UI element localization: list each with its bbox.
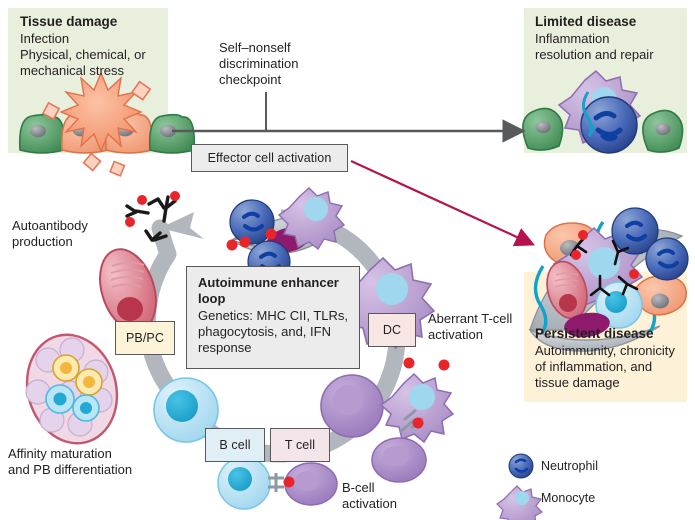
limited-disease-illustration xyxy=(523,71,683,153)
node-label-pb-pc[interactable]: PB/PC xyxy=(115,321,175,355)
node-label-dc[interactable]: DC xyxy=(368,313,416,347)
persistent-disease-body: Autoimmunity, chronicity of inflammation… xyxy=(535,343,675,391)
autoimmune-enhancer-loop-box: Autoimmune enhancer loop Genetics: MHC C… xyxy=(186,266,360,369)
checkpoint-label: Self–nonself discrimination checkpoint xyxy=(219,40,298,88)
legend-neutrophil-icon xyxy=(509,454,533,478)
limited-disease-body: Inflammation resolution and repair xyxy=(535,31,654,63)
affinity-maturation-label: Affinity maturation and PB differentiati… xyxy=(8,446,132,478)
persistent-disease-arrow xyxy=(351,161,519,238)
loop-box-body: Genetics: MHC CII, TLRs, phagocytosis, a… xyxy=(198,308,348,356)
effector-cell-activation-label: Effector cell activation xyxy=(208,151,332,165)
legend-item-neutrophil-label: Neutrophil xyxy=(541,459,598,473)
node-label-t-cell-text: T cell xyxy=(285,438,315,452)
legend-item-monocyte-label: Monocyte xyxy=(541,491,595,505)
node-label-t-cell[interactable]: T cell xyxy=(270,428,330,462)
t-cell-illustration xyxy=(321,375,383,437)
persistent-disease-title: Persistent disease xyxy=(535,326,654,342)
tissue-damage-illustration xyxy=(20,73,195,176)
tissue-damage-body: Infection Physical, chemical, or mechani… xyxy=(20,31,146,79)
node-label-pb-pc-text: PB/PC xyxy=(126,331,164,345)
b-cell-activation-illustration xyxy=(218,457,337,509)
aberrant-activation-label: Aberrant T-cell activation xyxy=(428,311,512,343)
tissue-damage-title: Tissue damage xyxy=(20,14,117,30)
node-label-b-cell[interactable]: B cell xyxy=(205,428,265,462)
b-cell-activation-label: B-cell activation xyxy=(342,480,397,512)
legend-monocyte-icon xyxy=(497,486,542,520)
limited-disease-title: Limited disease xyxy=(535,14,636,30)
effector-cell-activation-box[interactable]: Effector cell activation xyxy=(191,144,348,172)
affinity-maturation-illustration xyxy=(15,324,130,454)
loop-box-title: Autoimmune enhancer loop xyxy=(198,275,339,307)
diagram-canvas: Tissue damage Infection Physical, chemic… xyxy=(0,0,695,520)
node-label-b-cell-text: B cell xyxy=(219,438,250,452)
node-label-dc-text: DC xyxy=(383,323,401,337)
autoantibody-label: Autoantibody production xyxy=(12,218,88,250)
